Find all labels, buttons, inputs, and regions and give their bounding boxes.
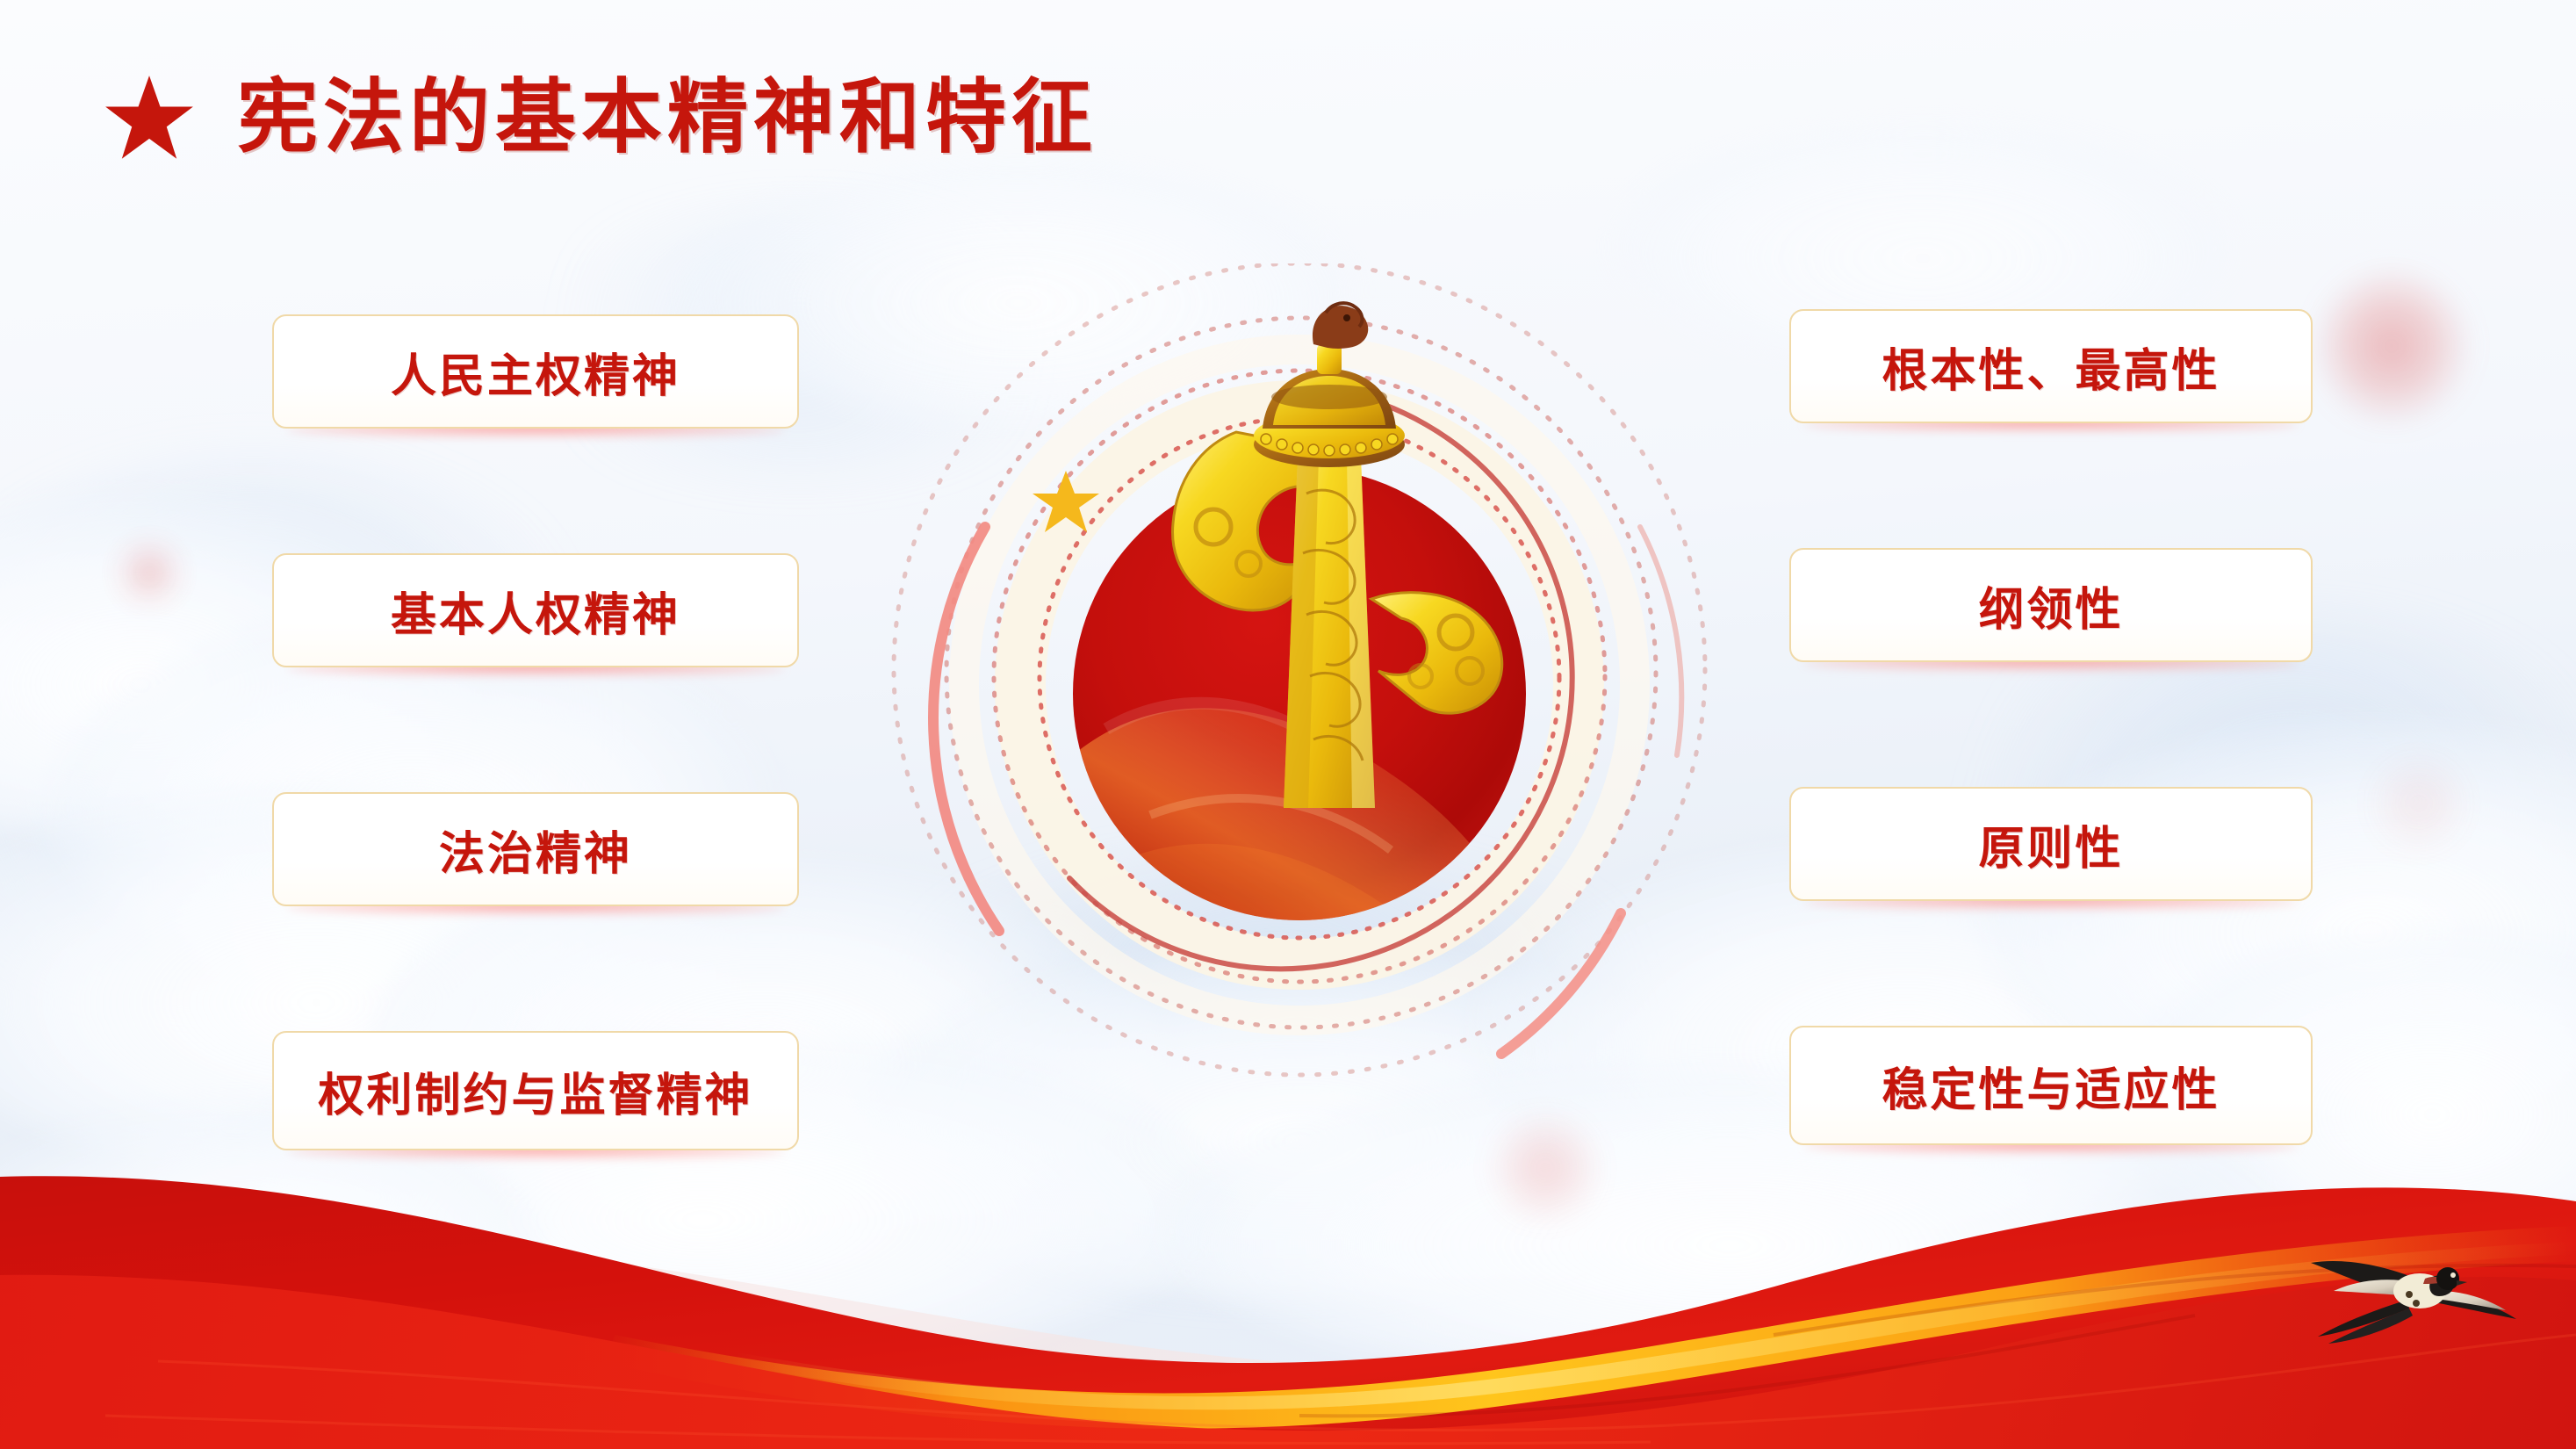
pink-blob-top-right — [2318, 272, 2465, 420]
pink-blob-bottom-center — [1493, 1115, 1598, 1221]
flying-swallow-icon — [2276, 1228, 2539, 1368]
page-title: 宪法的基本精神和特征 — [104, 72, 1097, 163]
slide-canvas: 宪法的基本精神和特征 — [0, 0, 2576, 1449]
left-label-column: 人民主权精神 基本人权精神 法治精神 权利制约与监督精神 — [272, 314, 799, 1150]
right-label-column: 根本性、最高性 纲领性 原则性 稳定性与适应性 — [1789, 309, 2313, 1145]
chip-label-text: 基本人权精神 — [391, 578, 680, 644]
label-chip-fundamental-supreme[interactable]: 根本性、最高性 — [1789, 309, 2313, 423]
page-title-text: 宪法的基本精神和特征 — [237, 76, 1097, 159]
chip-label-text: 权利制约与监督精神 — [318, 1058, 752, 1124]
chip-label-text: 纲领性 — [1978, 573, 2123, 638]
huabiao-column-emblem — [887, 263, 1730, 1107]
label-chip-power-restraint-supervision[interactable]: 权利制约与监督精神 — [272, 1031, 799, 1150]
label-chip-people-sovereignty[interactable]: 人民主权精神 — [272, 314, 799, 429]
chip-label-text: 人民主权精神 — [391, 339, 680, 405]
chip-label-text: 稳定性与适应性 — [1882, 1053, 2220, 1119]
chip-label-text: 根本性、最高性 — [1882, 334, 2220, 400]
label-chip-stability-adaptability[interactable]: 稳定性与适应性 — [1789, 1026, 2313, 1145]
five-point-star-icon — [104, 72, 195, 163]
pink-blob-mid-right — [2371, 755, 2467, 852]
label-chip-rule-of-law[interactable]: 法治精神 — [272, 792, 799, 906]
label-chip-programmatic[interactable]: 纲领性 — [1789, 548, 2313, 662]
label-chip-principled[interactable]: 原则性 — [1789, 787, 2313, 901]
chip-label-text: 法治精神 — [439, 817, 632, 883]
chip-label-text: 原则性 — [1978, 811, 2123, 877]
red-dot-left — [121, 544, 177, 601]
label-chip-basic-human-rights[interactable]: 基本人权精神 — [272, 553, 799, 667]
